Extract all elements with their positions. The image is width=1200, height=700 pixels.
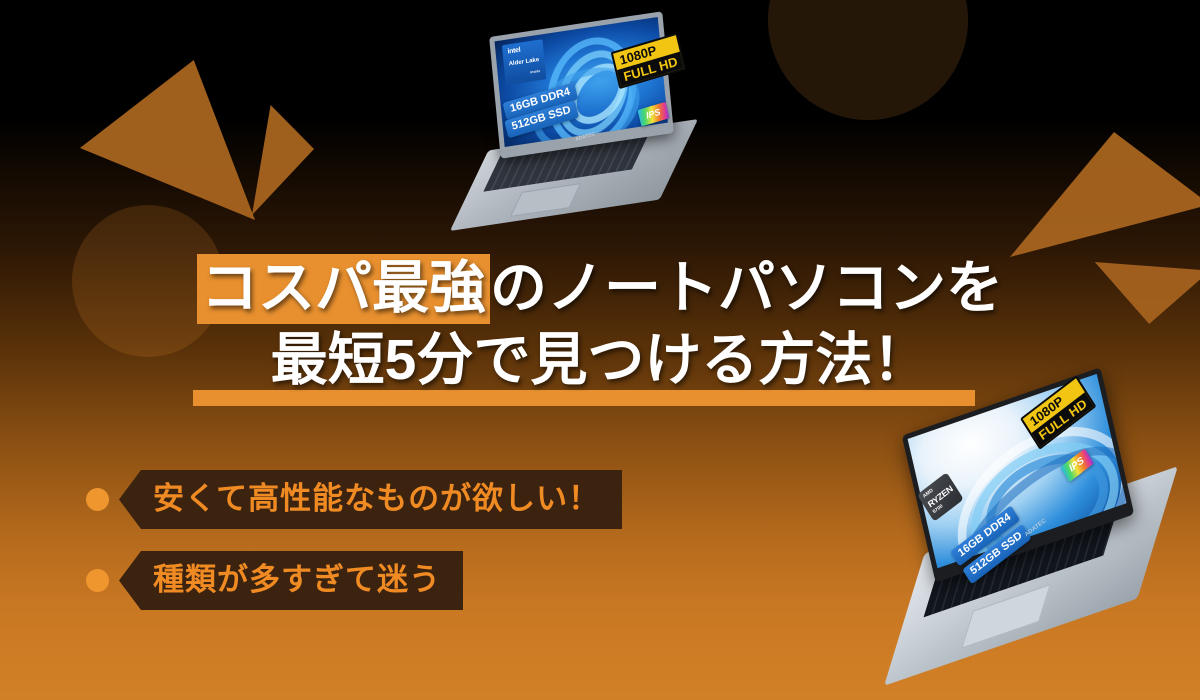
list-item: 種類が多すぎて迷う [86, 551, 622, 610]
bullet-dot-icon [86, 488, 109, 511]
cpu-badge-brand: intel [507, 44, 538, 56]
headline-line-1: コスパ最強のノートパソコンを [0, 258, 1200, 318]
cpu-badge-note: inside [510, 70, 541, 78]
bullet-list: 安くて高性能なものが欲しい！ 種類が多すぎて迷う [86, 470, 622, 632]
cpu-badge-intel: intel Alder Lake inside [502, 39, 546, 84]
laptop-lid: intel Alder Lake inside 16GB DDR4 512GB … [489, 11, 674, 158]
headline: コスパ最強のノートパソコンを 最短5分で見つける方法！ [0, 258, 1200, 390]
circle-top-right-decoration [768, 0, 968, 120]
list-item: 安くて高性能なものが欲しい！ [86, 470, 622, 529]
cpu-badge-model: Alder Lake [509, 57, 540, 68]
triangle-large-left-decoration [80, 60, 255, 220]
promo-banner: intel Alder Lake inside 16GB DDR4 512GB … [0, 0, 1200, 700]
headline-highlight: コスパ最強 [197, 254, 490, 324]
bullet-label: 安くて高性能なものが欲しい！ [119, 470, 622, 529]
bullet-label: 種類が多すぎて迷う [119, 551, 463, 610]
triangle-small-left-decoration [252, 105, 314, 215]
headline-underline [193, 390, 975, 406]
laptop-image-ryzen: AMD RYZEN 5700 16GB DDR4 512GB SSD 1080P… [905, 398, 1200, 688]
laptop-touchpad [510, 183, 581, 217]
bullet-dot-icon [86, 569, 109, 592]
headline-line-1-rest: のノートパソコンを [490, 256, 1003, 320]
triangle-right-decoration [1010, 132, 1200, 257]
headline-line-2: 最短5分で見つける方法！ [0, 330, 1200, 390]
laptop-image-intel: intel Alder Lake inside 16GB DDR4 512GB … [466, 18, 696, 218]
